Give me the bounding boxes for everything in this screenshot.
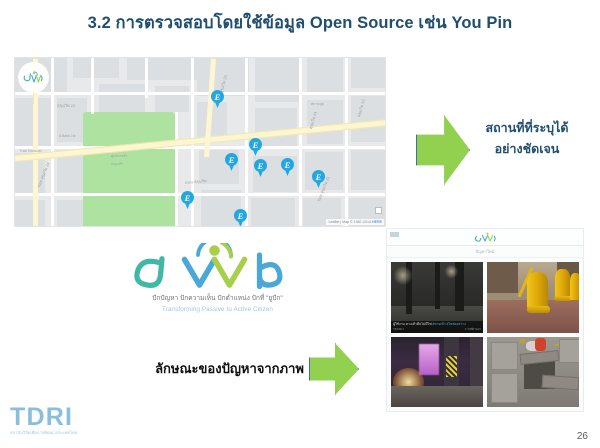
map-road — [15, 92, 386, 95]
photo-panel-subheader: ปัญหาใหม่ — [387, 246, 583, 258]
map-block — [351, 58, 386, 88]
photo-golden-statue — [570, 273, 579, 300]
photo-streetlight-glow — [444, 265, 459, 278]
arrow-right-icon — [309, 343, 359, 395]
photo-neon-sign — [419, 344, 439, 375]
map-zoom-control[interactable] — [375, 207, 382, 214]
map-pin[interactable]: E — [249, 138, 262, 156]
map-panel[interactable]: ซอย สุขุมวิท 33 สุขุมวิท 22 สุขุมวิท 41 … — [14, 57, 386, 227]
photo-caption-tags[interactable]: #ทางเท้า #ไฟส่องสว่าง — [433, 322, 466, 326]
map-road — [175, 112, 178, 227]
map-block — [255, 58, 301, 102]
photo-broken-pavement-hole[interactable] — [487, 337, 579, 408]
tdri-subtext: สถาบันวิจัยเพื่อการพัฒนาประเทศไทย — [10, 429, 120, 436]
map-badge-youpin[interactable] — [18, 62, 49, 93]
photo-golden-statue — [527, 272, 547, 309]
map-block — [73, 58, 119, 78]
photo-dark-street-night[interactable]: ผู้ใช้งาน ทางเท้ามืดไม่มีไฟ #ทางเท้า #ไฟ… — [391, 262, 483, 333]
map-poi-label: A Bank Ltd — [59, 134, 75, 138]
photo-caption: ผู้ใช้งาน ทางเท้ามืดไม่มีไฟ #ทางเท้า #ไฟ… — [391, 321, 483, 333]
photo-caption-meta: กรุงเทพฯ — [393, 327, 404, 331]
map-pin[interactable]: E — [225, 153, 238, 171]
map-road — [245, 58, 248, 227]
map-poi-label: สถานทูต — [311, 102, 324, 107]
map-block — [307, 58, 343, 92]
tdri-logo: TDRI สถาบันวิจัยเพื่อการพัฒนาประเทศไทย — [10, 405, 120, 436]
map-pin[interactable]: E — [181, 191, 194, 209]
map-pin[interactable]: E — [211, 90, 224, 108]
pin-logo-glyph: E — [234, 210, 247, 222]
youpin-logo-icon — [120, 243, 315, 291]
photo-hazard-stripe — [446, 356, 457, 377]
map-poi-label: เบญจสิริ — [111, 162, 123, 167]
map-road — [299, 58, 302, 227]
map-block — [351, 150, 386, 190]
youpin-tagline-thai: ปักปัญหา ปักความเห็น ปักตำแหน่ง ปักที่ "… — [120, 292, 315, 303]
photo-slab — [491, 342, 519, 370]
map-block — [15, 200, 45, 227]
tdri-wordmark: TDRI — [10, 405, 120, 430]
photo-slab — [559, 339, 579, 363]
photo-caption-user: ผู้ใช้งาน — [393, 322, 405, 326]
photo-slab — [491, 373, 519, 403]
menu-icon[interactable] — [390, 232, 399, 237]
pin-logo-glyph: E — [254, 160, 267, 172]
map-poi-label: ศูนย์การค้า — [111, 154, 127, 159]
photo-panel-header — [387, 229, 583, 246]
photo-plank — [542, 375, 579, 390]
map-road — [145, 58, 148, 98]
map-pin[interactable]: E — [254, 159, 267, 177]
photo-golden-statues-sidewalk[interactable] — [487, 262, 579, 333]
photo-tree — [435, 262, 440, 309]
pin-logo-glyph: E — [225, 154, 238, 166]
map-pin[interactable]: E — [234, 209, 247, 227]
youpin-logo-icon — [472, 232, 498, 244]
youpin-logo-small[interactable] — [472, 231, 498, 243]
youpin-logo-icon — [23, 71, 45, 85]
pin-logo-glyph: E — [181, 192, 194, 204]
map-road — [91, 58, 94, 114]
slide-canvas: 3.2 การตรวจสอบโดยใช้ข้อมูล Open Source เ… — [0, 0, 600, 448]
photo-grid: ผู้ใช้งาน ทางเท้ามืดไม่มีไฟ #ทางเท้า #ไฟ… — [387, 258, 583, 411]
pin-logo-glyph: E — [312, 171, 325, 183]
map-attribution: Leaflet | Map © 1987-2014 HERE — [326, 219, 384, 225]
photo-leaf — [520, 339, 525, 343]
page-title: 3.2 การตรวจสอบโดยใช้ข้อมูล Open Source เ… — [0, 10, 600, 36]
map-street-label: สุขุมวิท 22 — [57, 102, 75, 109]
photo-caption-text: ทางเท้ามืดไม่มีไฟ — [406, 322, 432, 326]
youpin-logo-block: ปักปัญหา ปักความเห็น ปักตำแหน่ง ปักที่ "… — [120, 243, 315, 313]
map-road — [51, 58, 54, 227]
map-park-area — [83, 112, 175, 227]
map-attribution-text: Leaflet | Map © 1987-2014 — [328, 220, 372, 224]
map-block — [127, 58, 171, 80]
photo-night-market-fire[interactable] — [391, 337, 483, 408]
map-block — [251, 198, 295, 227]
map-street-label: Thai Samuel — [19, 148, 41, 153]
youpin-wordmark — [120, 243, 315, 291]
photo-wall — [487, 262, 518, 293]
callout-location-identified: สถานที่ที่ระบุได้ อย่างชัดเจน — [462, 118, 592, 160]
photo-pillar — [470, 337, 483, 392]
callout-right-line2: อย่างชัดเจน — [462, 139, 592, 160]
photo-caption-time: 2 วันที่ผ่านมา — [465, 327, 481, 332]
map-road — [345, 58, 348, 227]
pin-logo-glyph: E — [249, 139, 262, 151]
photo-red-marker — [535, 338, 546, 351]
map-pin[interactable]: E — [281, 158, 294, 176]
callout-right-line1: สถานที่ที่ระบุได้ — [462, 118, 592, 139]
photo-streetlight-glow — [393, 266, 413, 284]
page-number: 26 — [577, 431, 588, 442]
pin-logo-glyph: E — [281, 159, 294, 171]
callout-problem-characteristics: ลักษณะของปัญหาจากภาพ — [108, 358, 304, 379]
photo-statue-base — [527, 306, 549, 313]
map-pin[interactable]: E — [312, 170, 325, 188]
photo-golden-statue — [555, 269, 570, 299]
photo-feed-panel[interactable]: ปัญหาใหม่ ผู้ใช้งาน ทางเท้ามืดไม่มีไฟ #ท… — [386, 228, 584, 412]
map-attribution-link[interactable]: HERE — [372, 220, 382, 224]
photo-rubble — [391, 386, 483, 407]
youpin-tagline-english: Transforming Passive to Active Citizen — [120, 306, 315, 313]
pin-logo-glyph: E — [211, 91, 224, 103]
map-block — [155, 86, 189, 112]
map-street-label: ถนน สุขุมวิท — [185, 177, 207, 186]
map-road — [15, 193, 386, 196]
